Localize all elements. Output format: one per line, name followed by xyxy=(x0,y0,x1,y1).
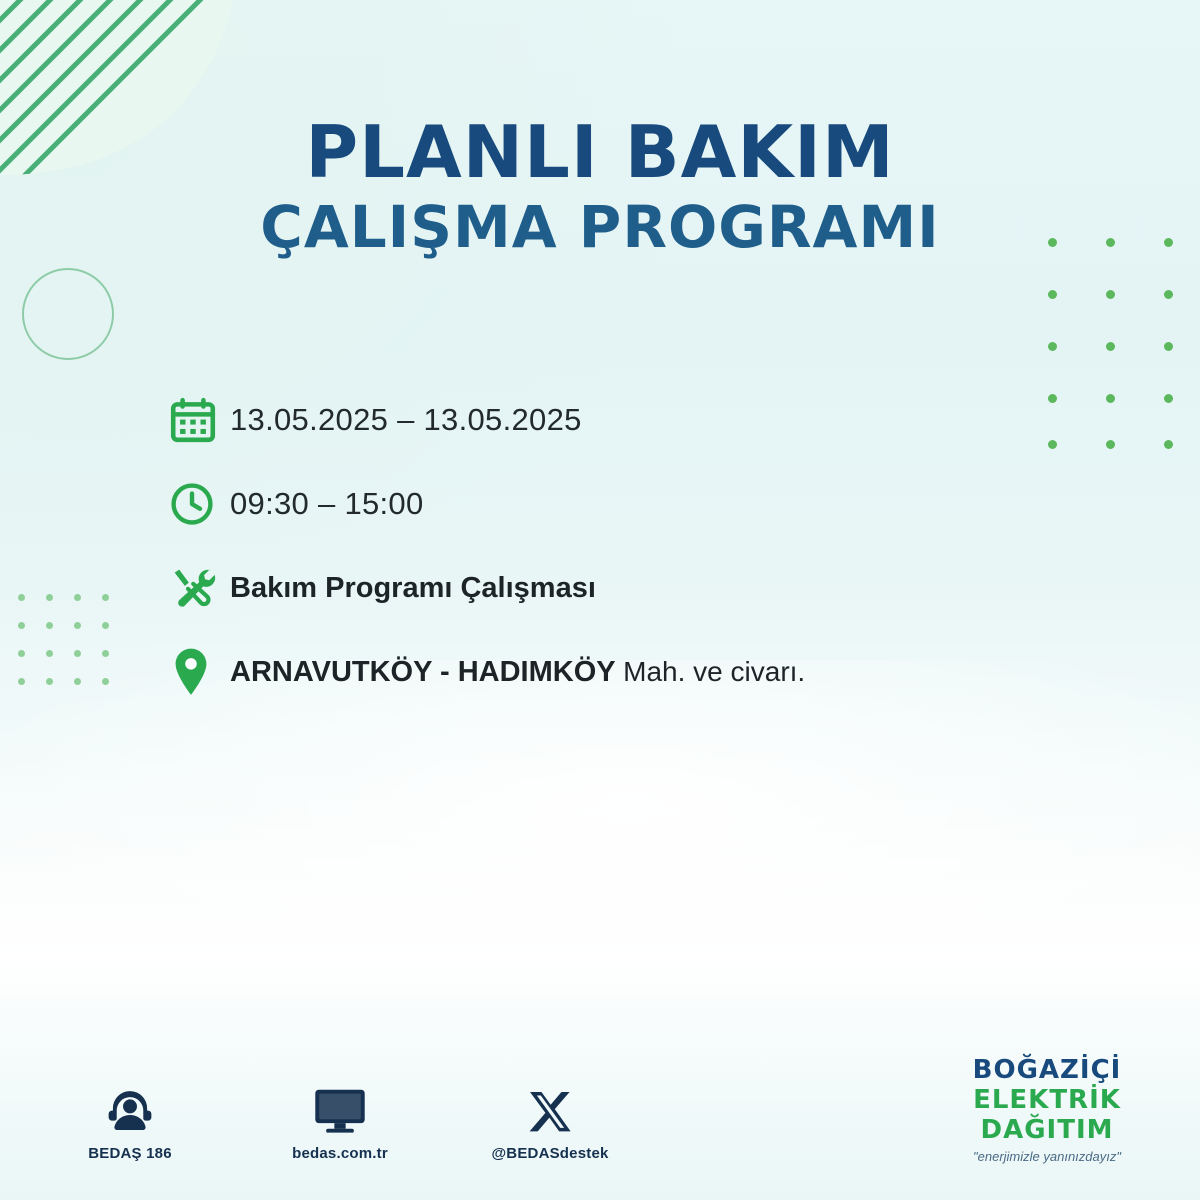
clock-icon xyxy=(168,480,230,528)
call-center-agent-icon xyxy=(60,1081,200,1137)
brand-logo: BOĞAZİÇİ ELEKTRİK DAĞITIM "enerjimizle y… xyxy=(932,1055,1162,1164)
brand-line-2: ELEKTRİK xyxy=(932,1085,1162,1115)
detail-location-value: ARNAVUTKÖY - HADIMKÖY Mah. ve civarı. xyxy=(230,656,805,689)
circle-outline-decoration xyxy=(22,268,114,360)
dot-grid-left-decoration xyxy=(14,590,106,690)
footer-item-social[interactable]: @BEDASdestek xyxy=(480,1081,620,1162)
brand-line-1: BOĞAZİÇİ xyxy=(932,1055,1162,1085)
footer-item-phone[interactable]: BEDAŞ 186 xyxy=(60,1081,200,1162)
page-subtitle: ÇALIŞMA PROGRAMI xyxy=(0,198,1200,256)
page-title: PLANLI BAKIM xyxy=(0,116,1200,188)
footer-phone-label: BEDAŞ 186 xyxy=(60,1145,200,1162)
monitor-icon xyxy=(270,1081,410,1137)
detail-time-value: 09:30 – 15:00 xyxy=(230,486,424,522)
outage-details-list: 13.05.2025 – 13.05.2025 09:30 – 15:00 Ba… xyxy=(168,378,1068,714)
detail-row-time: 09:30 – 15:00 xyxy=(168,462,1068,546)
map-pin-icon xyxy=(168,646,230,698)
calendar-icon xyxy=(168,395,230,445)
brand-slogan: "enerjimizle yanınızdayız" xyxy=(932,1149,1162,1164)
detail-row-work-type: Bakım Programı Çalışması xyxy=(168,546,1068,630)
footer-website-label: bedas.com.tr xyxy=(270,1145,410,1162)
detail-location-suffix: Mah. ve civarı. xyxy=(623,656,805,687)
x-social-icon xyxy=(480,1081,620,1137)
tools-icon xyxy=(168,563,230,613)
detail-row-location: ARNAVUTKÖY - HADIMKÖY Mah. ve civarı. xyxy=(168,630,1068,714)
poster-title-block: PLANLI BAKIM ÇALIŞMA PROGRAMI xyxy=(0,116,1200,256)
detail-work-type-value: Bakım Programı Çalışması xyxy=(230,572,596,605)
detail-row-date: 13.05.2025 – 13.05.2025 xyxy=(168,378,1068,462)
footer-social-label: @BEDASdestek xyxy=(480,1145,620,1162)
detail-location-main: ARNAVUTKÖY - HADIMKÖY xyxy=(230,656,615,688)
detail-date-value: 13.05.2025 – 13.05.2025 xyxy=(230,402,582,438)
footer-item-website[interactable]: bedas.com.tr xyxy=(270,1081,410,1162)
brand-line-3: DAĞITIM xyxy=(932,1115,1162,1145)
footer-contact-icons: BEDAŞ 186 bedas.com.tr @BEDASdestek xyxy=(60,1081,620,1162)
